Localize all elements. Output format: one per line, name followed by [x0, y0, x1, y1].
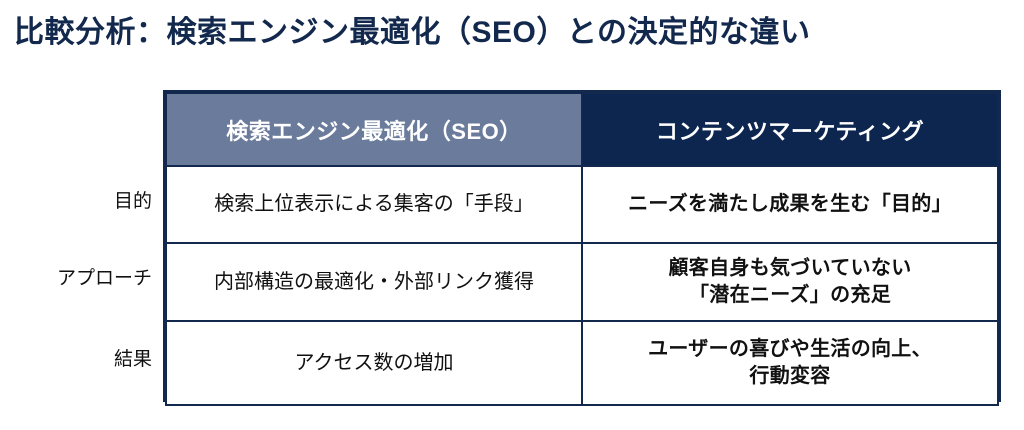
cell-seo-result: アクセス数の増加 — [166, 321, 582, 405]
table-header: 検索エンジン最適化（SEO） コンテンツマーケティング — [166, 93, 998, 166]
row-label-gutter: 目的 アプローチ 結果 — [0, 90, 152, 402]
comparison-table: 検索エンジン最適化（SEO） コンテンツマーケティング 検索上位表示による集客の… — [163, 90, 1001, 402]
cell-cm-approach: 顧客自身も気づいていない 「潜在ニーズ」の充足 — [582, 243, 998, 321]
cell-cm-result: ユーザーの喜びや生活の向上、 行動変容 — [582, 321, 998, 405]
table-row-approach: 内部構造の最適化・外部リンク獲得 顧客自身も気づいていない 「潜在ニーズ」の充足 — [166, 243, 998, 321]
column-header-content-marketing: コンテンツマーケティング — [582, 93, 998, 166]
comparison-table-grid: 検索エンジン最適化（SEO） コンテンツマーケティング 検索上位表示による集客の… — [165, 92, 999, 406]
page-title: 比較分析：検索エンジン最適化（SEO）との決定的な違い — [14, 14, 1004, 52]
row-label-purpose: 目的 — [0, 163, 152, 240]
column-header-seo: 検索エンジン最適化（SEO） — [166, 93, 582, 166]
cell-text-line: アクセス数の増加 — [175, 350, 573, 377]
cell-seo-approach: 内部構造の最適化・外部リンク獲得 — [166, 243, 582, 321]
table-body: 検索上位表示による集客の「手段」 ニーズを満たし成果を生む「目的」 内部構造の最… — [166, 166, 998, 405]
table-header-row: 検索エンジン最適化（SEO） コンテンツマーケティング — [166, 93, 998, 166]
table-row-purpose: 検索上位表示による集客の「手段」 ニーズを満たし成果を生む「目的」 — [166, 166, 998, 243]
cell-text-line: ユーザーの喜びや生活の向上、 — [591, 336, 989, 363]
cell-text-line: 顧客自身も気づいていない — [591, 255, 989, 282]
table-row-result: アクセス数の増加 ユーザーの喜びや生活の向上、 行動変容 — [166, 321, 998, 405]
row-label-result: 結果 — [0, 318, 152, 402]
cell-text-line: 「潜在ニーズ」の充足 — [591, 282, 989, 309]
cell-seo-purpose: 検索上位表示による集客の「手段」 — [166, 166, 582, 243]
row-label-approach: アプローチ — [0, 240, 152, 318]
cell-text-line: 内部構造の最適化・外部リンク獲得 — [175, 269, 573, 296]
cell-text-line: 検索上位表示による集客の「手段」 — [175, 191, 573, 218]
cell-text-line: ニーズを満たし成果を生む「目的」 — [591, 191, 989, 218]
slide-canvas: 比較分析：検索エンジン最適化（SEO）との決定的な違い 目的 アプローチ 結果 … — [0, 0, 1024, 430]
cell-text-line: 行動変容 — [591, 363, 989, 390]
cell-cm-purpose: ニーズを満たし成果を生む「目的」 — [582, 166, 998, 243]
